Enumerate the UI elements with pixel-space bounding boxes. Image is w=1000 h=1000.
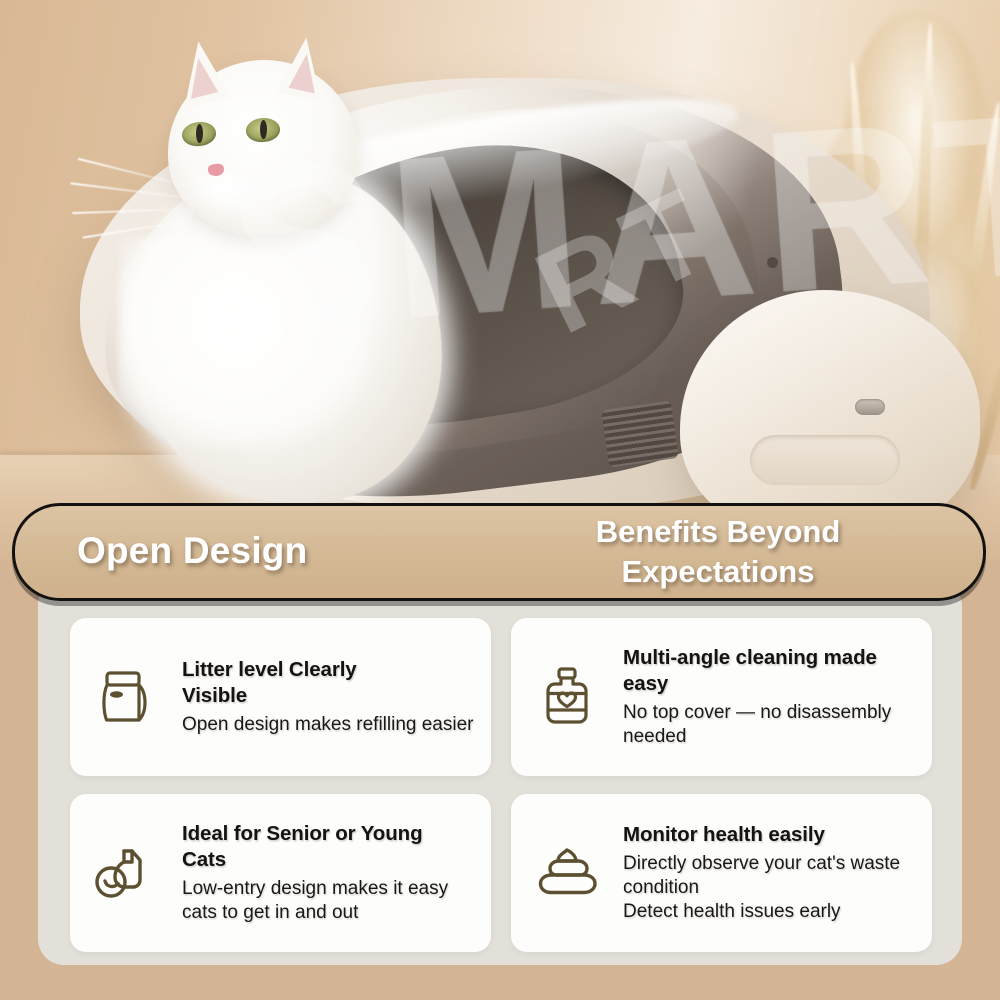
feature-card-title: Litter level Clearly Visible — [182, 657, 422, 708]
banner-right-title: Benefits Beyond Expectations — [508, 512, 928, 591]
section-banner: Open Design Benefits Beyond Expectations — [12, 503, 986, 601]
feature-card-text: Monitor health easily Directly observe y… — [623, 822, 932, 924]
feature-card-description: Low-entry design makes it easy cats to g… — [182, 877, 477, 925]
base-handle-slot — [750, 435, 900, 485]
feature-card[interactable]: Litter level Clearly Visible Open design… — [70, 618, 491, 776]
product-infographic: RT SMART Open Design Benefits Beyond Exp… — [0, 0, 1000, 1000]
feature-card-title: Monitor health easily — [623, 822, 918, 847]
feature-card-description: Open design makes refilling easier — [182, 713, 474, 737]
feature-card-text: Ideal for Senior or Young Cats Low-entry… — [182, 821, 491, 925]
product-photo: RT SMART — [0, 0, 1000, 560]
poop-icon — [511, 844, 623, 902]
feature-card-description: No top cover — no disassembly needed — [623, 701, 918, 749]
cat-photo-subject — [120, 22, 540, 492]
feature-card-title: Ideal for Senior or Young Cats — [182, 821, 432, 872]
cat-chest-fur — [120, 237, 370, 447]
status-led — [855, 399, 885, 415]
feature-card[interactable]: Monitor health easily Directly observe y… — [511, 794, 932, 952]
feature-card-title: Multi-angle cleaning made easy — [623, 645, 918, 696]
feature-card-grid: Litter level Clearly Visible Open design… — [70, 618, 932, 952]
cat-pupil-right — [260, 120, 267, 139]
cat-pupil-left — [196, 124, 203, 143]
cat-muzzle — [186, 172, 262, 218]
sensor-icon — [767, 257, 778, 268]
banner-right-title-line1: Benefits Beyond — [508, 512, 928, 552]
vent-grille — [601, 400, 678, 467]
banner-right-title-line2: Expectations — [508, 552, 928, 592]
detergent-bottle-heart-icon — [511, 664, 623, 730]
cat-with-ball-icon — [70, 840, 182, 906]
feature-card-text: Litter level Clearly Visible Open design… — [182, 657, 488, 737]
feature-card-text: Multi-angle cleaning made easy No top co… — [623, 645, 932, 749]
feature-card-description: Directly observe your cat's waste condit… — [623, 852, 918, 924]
litter-bag-icon — [70, 664, 182, 730]
banner-left-title: Open Design — [77, 530, 307, 572]
feature-card[interactable]: Ideal for Senior or Young Cats Low-entry… — [70, 794, 491, 952]
feature-card[interactable]: Multi-angle cleaning made easy No top co… — [511, 618, 932, 776]
